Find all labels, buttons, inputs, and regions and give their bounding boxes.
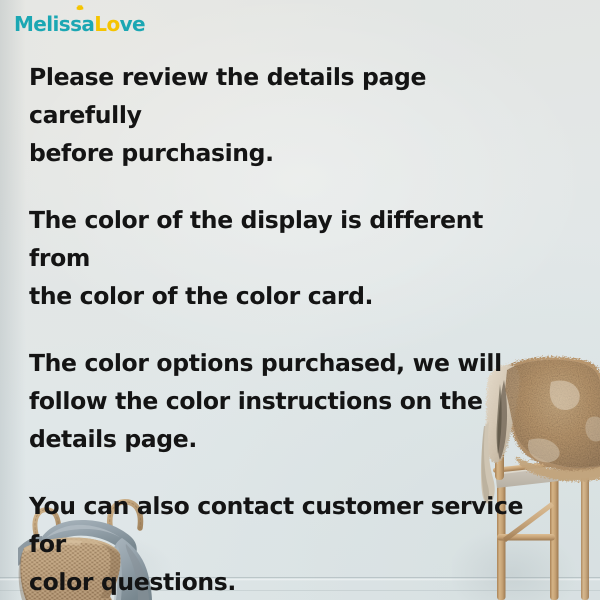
brand-wordmark-melissa: Melissa [14,12,94,36]
brand-wordmark-ve: ve [120,12,145,36]
notice-paragraph-3: The color options purchased, we will fol… [29,344,529,458]
notice-paragraph-4: You can also contact customer service fo… [29,487,529,600]
brand-wordmark-l: L [94,12,106,36]
notice-paragraph-2: The color of the display is different fr… [29,201,529,315]
product-info-image: MelissaLove Please review the details pa… [0,0,600,600]
notice-paragraph-1: Please review the details page carefully… [29,58,529,172]
notice-text-block: Please review the details page carefully… [29,58,529,600]
brand-wordmark: MelissaLove [14,14,145,34]
brand-logo[interactable]: MelissaLove [14,6,145,34]
brand-wordmark-o: o [106,12,119,36]
